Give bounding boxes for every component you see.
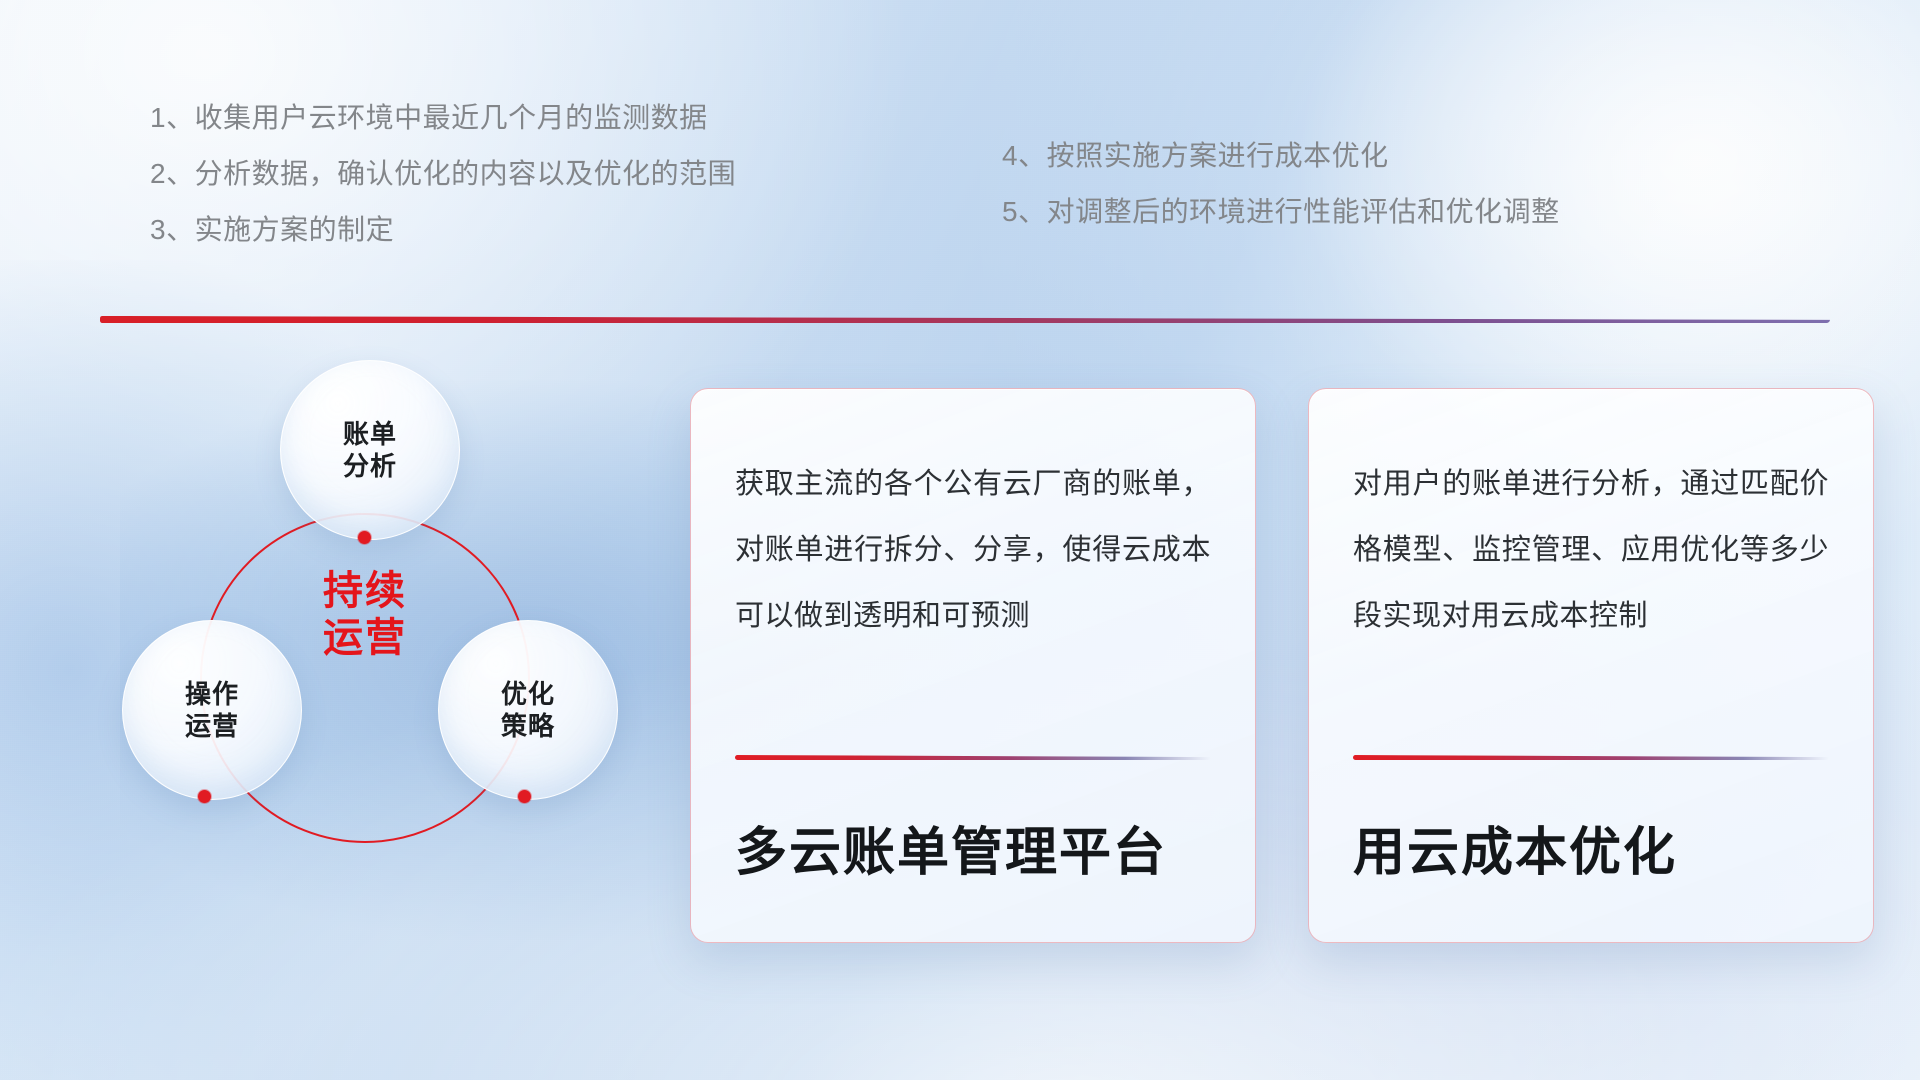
feature-card-body: 获取主流的各个公有云厂商的账单，对账单进行拆分、分享，使得云成本可以做到透明和可… [735, 451, 1211, 649]
feature-card-divider [735, 755, 1211, 760]
feature-card-title: 多云账单管理平台 [735, 825, 1211, 882]
diagram-bubble-label: 优化 策略 [501, 678, 555, 742]
process-step-2: 2、分析数据，确认优化的内容以及优化的范围 [150, 160, 736, 188]
process-steps-left-column: 1、收集用户云环境中最近几个月的监测数据 2、分析数据，确认优化的内容以及优化的… [150, 104, 736, 244]
diagram-bubble-optimization-strategy[interactable]: 优化 策略 [438, 620, 618, 800]
diagram-center-label-line1: 持续 [323, 569, 407, 613]
diagram-node-dot-top [358, 531, 371, 544]
feature-card-title: 用云成本优化 [1353, 825, 1829, 882]
feature-card-divider [1353, 755, 1829, 760]
diagram-bubble-label-line2: 运营 [185, 711, 239, 741]
process-step-3: 3、实施方案的制定 [150, 216, 736, 244]
process-step-5: 5、对调整后的环境进行性能评估和优化调整 [1002, 198, 1560, 226]
feature-card-body: 对用户的账单进行分析，通过匹配价格模型、监控管理、应用优化等多少段实现对用云成本… [1353, 451, 1829, 649]
feature-card-multi-cloud-bill-platform[interactable]: 获取主流的各个公有云厂商的账单，对账单进行拆分、分享，使得云成本可以做到透明和可… [690, 388, 1256, 943]
diagram-bubble-bill-analysis[interactable]: 账单 分析 [280, 360, 460, 540]
diagram-bubble-label: 账单 分析 [343, 418, 397, 482]
diagram-center-label: 持续 运营 [275, 568, 455, 662]
diagram-bubble-label: 操作 运营 [185, 678, 239, 742]
diagram-node-dot-left [198, 790, 211, 803]
process-step-4: 4、按照实施方案进行成本优化 [1002, 142, 1560, 170]
diagram-bubble-label-line1: 操作 [185, 679, 239, 709]
diagram-center-label-line2: 运营 [323, 616, 407, 660]
diagram-bubble-label-line1: 优化 [501, 679, 555, 709]
process-steps-right-column: 4、按照实施方案进行成本优化 5、对调整后的环境进行性能评估和优化调整 [1002, 142, 1560, 226]
diagram-node-dot-right [518, 790, 531, 803]
diagram-bubble-label-line2: 策略 [501, 711, 555, 741]
diagram-bubble-label-line1: 账单 [343, 419, 397, 449]
continuous-operation-diagram: 账单 分析 操作 运营 优化 策略 持续 运营 [100, 350, 630, 940]
process-steps-list: 1、收集用户云环境中最近几个月的监测数据 2、分析数据，确认优化的内容以及优化的… [0, 104, 1920, 294]
feature-card-cloud-cost-optimization[interactable]: 对用户的账单进行分析，通过匹配价格模型、监控管理、应用优化等多少段实现对用云成本… [1308, 388, 1874, 943]
diagram-bubble-label-line2: 分析 [343, 451, 397, 481]
process-step-1: 1、收集用户云环境中最近几个月的监测数据 [150, 104, 736, 132]
